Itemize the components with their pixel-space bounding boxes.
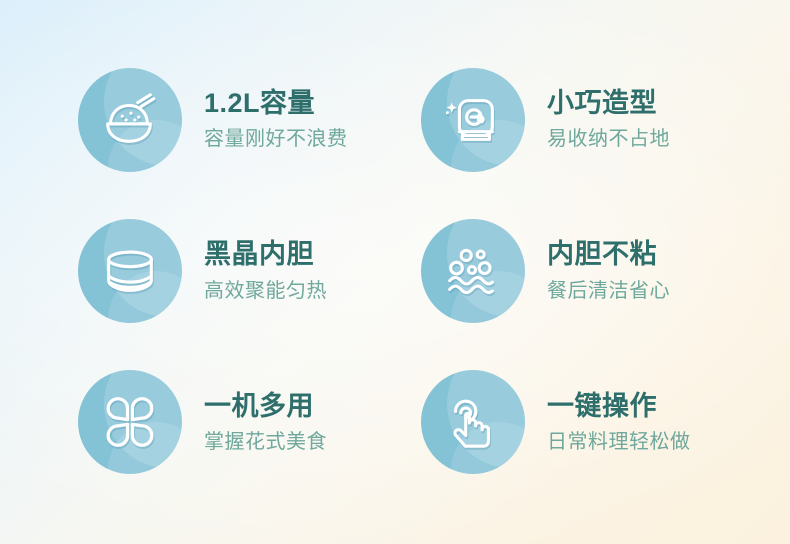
feature-item-multifunction: 一机多用 掌握花式美食 <box>78 347 421 498</box>
feature-item-compact: 小巧造型 易收纳不占地 <box>421 44 764 195</box>
feature-title: 内胆不粘 <box>547 239 670 270</box>
feature-title: 1.2L容量 <box>204 88 348 119</box>
bubbles-waves-icon <box>421 219 525 323</box>
feature-text-block: 一键操作 日常料理轻松做 <box>547 391 691 454</box>
feature-title: 一机多用 <box>204 391 327 422</box>
feature-poster: 1.2L容量 容量刚好不浪费 小巧造型 <box>0 0 790 544</box>
four-petal-clover-icon <box>78 370 182 474</box>
feature-item-nonstick: 内胆不粘 餐后清洁省心 <box>421 195 764 346</box>
feature-subtitle: 高效聚能匀热 <box>204 279 327 303</box>
feature-text-block: 黑晶内胆 高效聚能匀热 <box>204 239 327 302</box>
tap-hand-icon <box>421 370 525 474</box>
feature-text-block: 一机多用 掌握花式美食 <box>204 391 327 454</box>
feature-subtitle: 掌握花式美食 <box>204 430 327 454</box>
feature-grid: 1.2L容量 容量刚好不浪费 小巧造型 <box>0 0 790 544</box>
feature-title: 黑晶内胆 <box>204 239 327 270</box>
feature-subtitle: 容量刚好不浪费 <box>204 127 348 151</box>
feature-title: 一键操作 <box>547 391 691 422</box>
feature-item-inner-pot: 黑晶内胆 高效聚能匀热 <box>78 195 421 346</box>
feature-text-block: 小巧造型 易收纳不占地 <box>547 88 670 151</box>
feature-text-block: 内胆不粘 餐后清洁省心 <box>547 239 670 302</box>
feature-subtitle: 易收纳不占地 <box>547 127 670 151</box>
feature-subtitle: 日常料理轻松做 <box>547 430 691 454</box>
rice-bowl-chopsticks-icon <box>78 68 182 172</box>
feature-text-block: 1.2L容量 容量刚好不浪费 <box>204 88 348 151</box>
feature-item-capacity: 1.2L容量 容量刚好不浪费 <box>78 44 421 195</box>
feature-subtitle: 餐后清洁省心 <box>547 279 670 303</box>
compact-appliance-sparkle-icon <box>421 68 525 172</box>
inner-pot-icon <box>78 219 182 323</box>
feature-item-one-touch: 一键操作 日常料理轻松做 <box>421 347 764 498</box>
feature-title: 小巧造型 <box>547 88 670 119</box>
